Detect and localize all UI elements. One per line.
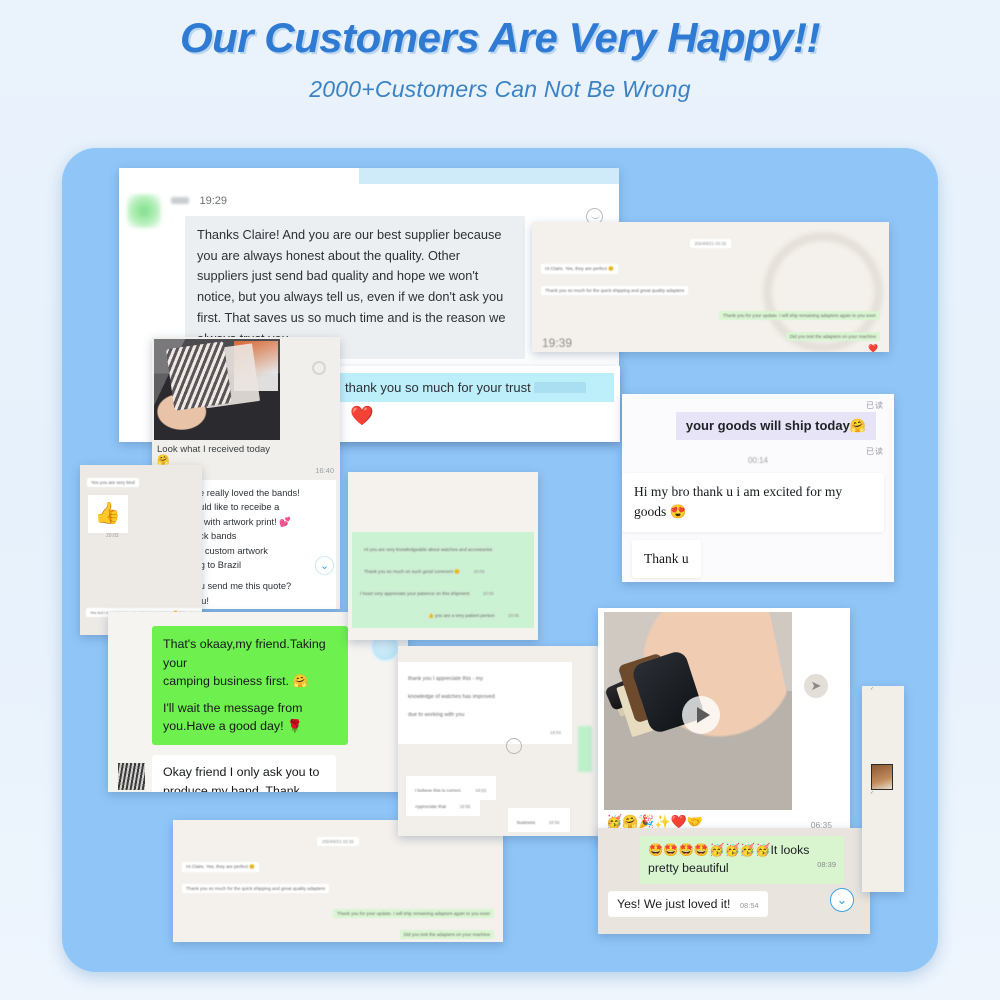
heart-reaction-icon: ❤️ (350, 404, 620, 428)
emoji-reaction-row: 🥳🤗🎉✨❤️🤝 06:35 (598, 810, 850, 830)
testimonial-card-thanks-trust[interactable]: thank you so much for your trust ❤️ (330, 366, 620, 442)
chat-line: Hi Claire, Yes, they are perfect 😊 (541, 264, 618, 274)
avatar-contact (118, 763, 145, 790)
chat-thread-green: Hi you are very knowledgeable about watc… (352, 532, 534, 628)
sender-name-redacted (171, 197, 189, 204)
emoji-row-text: 🥳🤗🎉✨❤️🤝 (606, 814, 703, 829)
testimonial-card-adapters-chat-2[interactable]: 2024/6/21 02:32 Hi Claire, Yes, they are… (173, 820, 503, 942)
chat-time-label: 19:39 (542, 336, 572, 350)
message-time: 00:14 (622, 456, 894, 465)
white-line-2: produce my band. Thank you, (163, 782, 325, 792)
message-time: 08:54 (734, 901, 759, 910)
date-stamp: 2024/6/21 02:32 (317, 837, 359, 846)
received-bands-photo[interactable] (154, 339, 280, 440)
green-bubble-partial (578, 726, 592, 772)
hug-emoji-icon: 🤗 (850, 418, 866, 433)
read-badge: 已读 (866, 400, 884, 411)
message-bubble-received-1: Hi my bro thank u i am excited for my go… (622, 473, 884, 532)
photo-caption-text: Look what I received today (157, 444, 270, 455)
green-line-2: camping business first. 🤗 (163, 672, 337, 691)
testimonial-card-adapters-chat[interactable]: 2024/6/21 02:32 Hi Claire, Yes, they are… (532, 222, 889, 352)
testimonial-card-loved-it[interactable]: 🤩🤩🤩🤩🥳🥳🥳🥳It looks pretty beautiful 08:39 … (598, 828, 870, 934)
chat-line-sent: Thank you for your update. I will ship r… (333, 909, 494, 918)
chat-line: Yes you are very kind (87, 478, 139, 487)
video-thumbnail[interactable] (604, 612, 792, 810)
message-text: thank you so much for your trust (345, 380, 531, 395)
thumbs-up-emoji-icon: 👍 (88, 495, 128, 533)
chat-line: Hi Claire, Yes, they are perfect 😊 (182, 862, 259, 872)
message-time: 20:06 (478, 589, 499, 598)
chat-line: Thank you so much on such good comment 😊 (360, 567, 464, 577)
forward-icon[interactable]: ➤ (804, 674, 828, 698)
loved-green-text: 🤩🤩🤩🤩🥳🥳🥳🥳It looks pretty beautiful (648, 843, 809, 875)
message-time: 20:06 (503, 611, 524, 620)
chat-line: knowledge of watches has improved (404, 692, 499, 702)
message-time: 18:56 (454, 802, 475, 811)
green-line-3: I'll wait the message from (163, 699, 337, 718)
chat-line: thank you I appreciate this - my (404, 674, 487, 684)
chat-line: due to working with you (404, 710, 468, 720)
date-stamp: 2024/6/21 02:32 (690, 239, 732, 248)
chat-line: Hi you are very knowledgeable about watc… (360, 545, 496, 554)
chat-line: Thank you so much for the quick shipping… (541, 286, 688, 295)
delivered-check-icon-2: ✓ (870, 790, 904, 796)
page-subtitle: 2000+Customers Can Not Be Wrong (0, 76, 1000, 103)
testimonial-card-right-sliver[interactable]: ✓ ✓ (862, 686, 904, 892)
message-time: 20:06 (469, 567, 490, 576)
message-bubble-cyan: thank you so much for your trust (336, 373, 614, 402)
testimonial-card-video[interactable]: ➤ 🥳🤗🎉✨❤️🤝 06:35 (598, 608, 850, 846)
testimonial-card-thumbs-up[interactable]: Yes you are very kind 👍 20:03 Yes but I … (80, 465, 202, 635)
loading-ring-icon (506, 738, 522, 754)
message-time: 08:39 (817, 860, 836, 871)
chat-line-sent: Did you test the adapters on your machin… (400, 930, 494, 939)
message-bubble-white-loved: Yes! We just loved it! 08:54 (608, 891, 768, 917)
testimonial-card-watch-knowledge-blur[interactable]: Hi you are very knowledgeable about watc… (348, 472, 538, 640)
avatar (127, 194, 161, 228)
loved-white-text: Yes! We just loved it! (617, 897, 730, 911)
message-bubble-lilac: your goods will ship today🤗 (676, 412, 876, 440)
white-line-1: Okay friend I only ask you to (163, 763, 325, 782)
chevron-down-icon[interactable]: ⌄ (830, 888, 854, 912)
chat-window-titlebar (119, 168, 619, 184)
testimonial-card-watch-knowledge[interactable]: thank you I appreciate this - my knowled… (398, 646, 598, 836)
play-button-icon[interactable] (682, 696, 720, 734)
loading-ring-icon (312, 361, 326, 375)
chat-line: 👍 you are a very patient person (424, 611, 499, 621)
redacted-block (534, 382, 586, 393)
product-thumbnail[interactable] (871, 764, 893, 790)
testimonial-card-ship-today[interactable]: 已读 your goods will ship today🤗 已读 00:14 … (622, 394, 894, 582)
heart-reaction-icon: ❤ (173, 941, 503, 942)
chat-line: Appreciate that (411, 802, 450, 811)
chat-line: Thank you so much for the quick shipping… (182, 884, 329, 893)
message-bubble-received-2: Thank u (632, 540, 701, 578)
message-time: 19:29 (199, 195, 227, 207)
chevron-down-icon[interactable]: ⌄ (315, 556, 334, 575)
message-time: 18:56 (544, 818, 565, 827)
message-bubble-green: That's okaay,my friend.Taking your campi… (152, 626, 348, 745)
message-time: 20:03 (106, 533, 202, 539)
green-line-4: you.Have a good day! 🌹 (163, 717, 337, 736)
page-title: Our Customers Are Very Happy!! (0, 16, 1000, 60)
message-bubble-green-loved: 🤩🤩🤩🤩🥳🥳🥳🥳It looks pretty beautiful 08:39 (640, 836, 844, 884)
delivered-check-icon: ✓ (870, 686, 904, 692)
chat-line: I heart very appreciate your patience on… (356, 589, 473, 598)
page-header: Our Customers Are Very Happy!! 2000+Cust… (0, 0, 1000, 103)
ship-message-text: your goods will ship today (686, 418, 850, 433)
message-time: 18:54 (545, 728, 566, 737)
green-line-1: That's okaay,my friend.Taking your (163, 635, 337, 672)
chat-line-sent: Thank you for your update. I will ship r… (719, 311, 880, 320)
chat-line-sent: Did you test the adapters on your machin… (786, 332, 880, 341)
chat-line: business (513, 818, 539, 827)
photo-caption: Look what I received today (152, 440, 340, 455)
message-bubble-white: Okay friend I only ask you to produce my… (152, 755, 336, 792)
